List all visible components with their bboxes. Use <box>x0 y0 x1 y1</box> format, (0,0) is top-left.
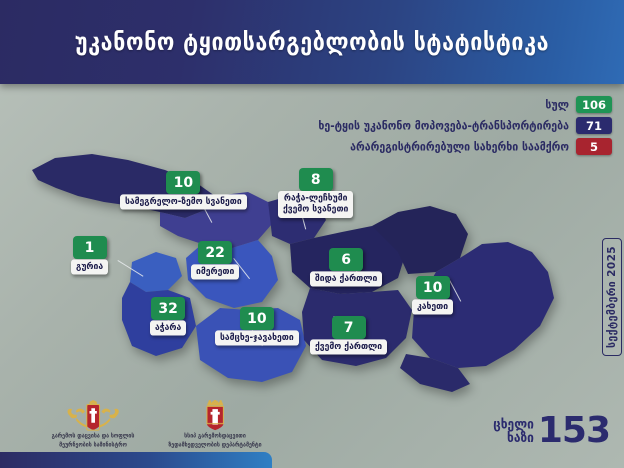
legend-row-illegal-logging: ხე-ტყის უკანონო მოპოვება-ტრანსპორტირება … <box>318 117 612 134</box>
page-header: უკანონო ტყითსარგებლობის სტატისტიკა <box>0 0 624 84</box>
environmental-supervision-logo: სსიპ გარემოსდაცვითი ზედამხედველობის დეპა… <box>140 400 290 450</box>
map-label-samtskhe-javakheti: სამცხე-ჯავახეთი <box>215 330 299 346</box>
map-value-racha-lechkhumi: 8 <box>299 168 333 191</box>
legend-label-total: სულ <box>545 98 569 111</box>
ministry-caption-line2: მეურნეობის სამინისტრო <box>59 442 127 449</box>
map-marker-adjara[interactable]: 32 აჭარა <box>150 297 186 335</box>
map-marker-samtskhe-javakheti[interactable]: 10 სამცხე-ჯავახეთი <box>215 307 299 345</box>
environmental-supervision-caption: სსიპ გარემოსდაცვითი ზედამხედველობის დეპა… <box>168 433 261 450</box>
georgia-map: 10 სამეგრელო-ზემო სვანეთი 1 გურია 22 იმე… <box>0 140 600 410</box>
ministry-caption-line1: გარემოს დაცვისა და სოფლის <box>52 433 135 440</box>
footer-accent-bar <box>0 452 272 468</box>
supervision-caption-line1: სსიპ გარემოსდაცვითი <box>184 433 246 440</box>
map-marker-kakheti[interactable]: 10 კახეთი <box>412 276 453 314</box>
legend-badge-illegal-logging: 71 <box>576 117 612 134</box>
map-label-shida-kartli: შიდა ქართლი <box>310 271 382 287</box>
map-marker-kvemo-kartli[interactable]: 7 ქვემო ქართლი <box>310 316 387 354</box>
map-label-adjara: აჭარა <box>150 320 186 336</box>
map-value-samtskhe-javakheti: 10 <box>240 307 274 330</box>
hotline-word-2: ხაზი <box>507 430 534 446</box>
supervision-caption-line2: ზედამხედველობის დეპარტამენტი <box>168 442 261 449</box>
page-footer: გარემოს დაცვისა და სოფლის მეურნეობის სამ… <box>0 396 624 468</box>
map-label-racha-lechkhumi: რაჭა-ლეჩხუმი ქვემო სვანეთი <box>278 191 353 218</box>
map-value-adjara: 32 <box>151 297 185 320</box>
map-value-samegrelo: 10 <box>166 171 200 194</box>
legend-badge-total: 106 <box>576 96 612 113</box>
date-label: სექტემბერი 2025 <box>602 238 622 356</box>
ministry-of-environment-crest-icon <box>64 400 122 431</box>
hotline: ცხელი ხაზი 153 <box>493 416 610 446</box>
map-marker-guria[interactable]: 1 გურია <box>71 236 108 274</box>
page-title: უკანონო ტყითსარგებლობის სტატისტიკა <box>75 28 549 56</box>
legend-label-illegal-logging: ხე-ტყის უკანონო მოპოვება-ტრანსპორტირება <box>318 119 569 132</box>
hotline-number: 153 <box>538 416 610 446</box>
hotline-label: ცხელი ხაზი <box>493 418 534 445</box>
map-value-kakheti: 10 <box>416 276 450 299</box>
map-value-shida-kartli: 6 <box>329 248 363 271</box>
map-label-kakheti: კახეთი <box>412 299 453 315</box>
map-value-imereti: 22 <box>198 241 232 264</box>
map-value-kvemo-kartli: 7 <box>332 316 366 339</box>
map-marker-shida-kartli[interactable]: 6 შიდა ქართლი <box>310 248 382 286</box>
map-label-kvemo-kartli: ქვემო ქართლი <box>310 339 387 355</box>
map-label-racha-line1: რაჭა-ლეჩხუმი <box>284 193 348 204</box>
environmental-supervision-crest-icon <box>186 400 244 431</box>
map-marker-samegrelo[interactable]: 10 სამეგრელო-ზემო სვანეთი <box>120 171 247 209</box>
map-marker-imereti[interactable]: 22 იმერეთი <box>191 241 239 279</box>
map-label-racha-line2: ქვემო სვანეთი <box>283 204 348 215</box>
map-value-guria: 1 <box>73 236 107 259</box>
map-label-guria: გურია <box>71 259 108 275</box>
map-label-samegrelo: სამეგრელო-ზემო სვანეთი <box>120 194 247 210</box>
ministry-of-environment-caption: გარემოს დაცვისა და სოფლის მეურნეობის სამ… <box>52 433 135 450</box>
legend-row-total: სულ 106 <box>545 96 612 113</box>
map-marker-racha-lechkhumi[interactable]: 8 რაჭა-ლეჩხუმი ქვემო სვანეთი <box>278 168 353 217</box>
map-label-imereti: იმერეთი <box>191 264 239 280</box>
